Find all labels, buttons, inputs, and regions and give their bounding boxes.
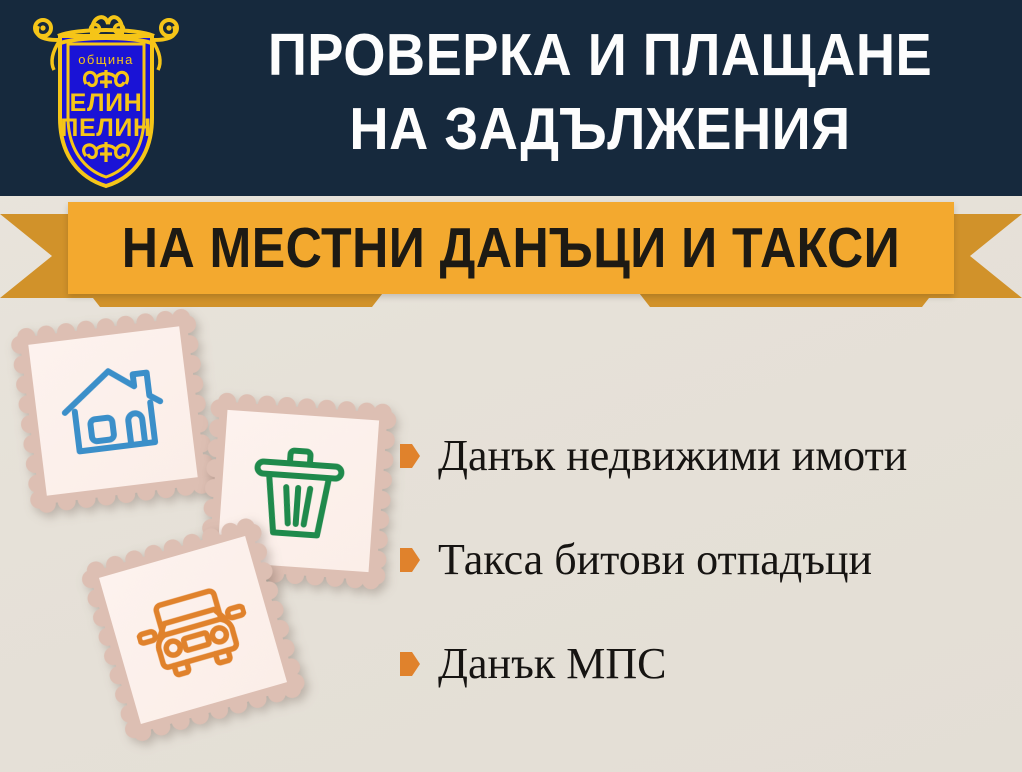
crest-name-line-2: ПЕЛИН [60, 114, 151, 142]
crest-name-line-1: ЕЛИН [70, 89, 143, 117]
ribbon-banner: НА МЕСТНИ ДАНЪЦИ И ТАКСИ [0, 192, 1022, 308]
list-item-label: Данък МПС [438, 638, 666, 690]
list-item-label: Такса битови отпадъци [438, 534, 872, 586]
arrow-bullet-icon [400, 652, 420, 676]
house-icon [28, 326, 197, 495]
page-title: ПРОВЕРКА И ПЛАЩАНЕ НА ЗАДЪЛЖЕНИЯ [223, 18, 977, 166]
list-item[interactable]: Данък МПС [400, 638, 1010, 690]
page-title-line-2: НА ЗАДЪЛЖЕНИЯ [223, 92, 977, 166]
arrow-bullet-icon [400, 444, 420, 468]
tax-types-list: Данък недвижими имоти Такса битови отпад… [400, 430, 1010, 742]
list-item[interactable]: Данък недвижими имоти [400, 430, 1010, 482]
ribbon-subtitle: НА МЕСТНИ ДАНЪЦИ И ТАКСИ [121, 202, 901, 294]
page-title-line-1: ПРОВЕРКА И ПЛАЩАНЕ [223, 18, 977, 92]
crest-municipality-word: община [78, 52, 133, 67]
municipality-crest-logo: община ЕЛИН ПЕЛИН [28, 6, 184, 192]
stamp-card-property [9, 307, 216, 514]
list-item-label: Данък недвижими имоти [438, 430, 907, 482]
poster-canvas: община ЕЛИН ПЕЛИН ПРОВЕРКА И П [0, 0, 1022, 772]
arrow-bullet-icon [400, 548, 420, 572]
list-item[interactable]: Такса битови отпадъци [400, 534, 1010, 586]
